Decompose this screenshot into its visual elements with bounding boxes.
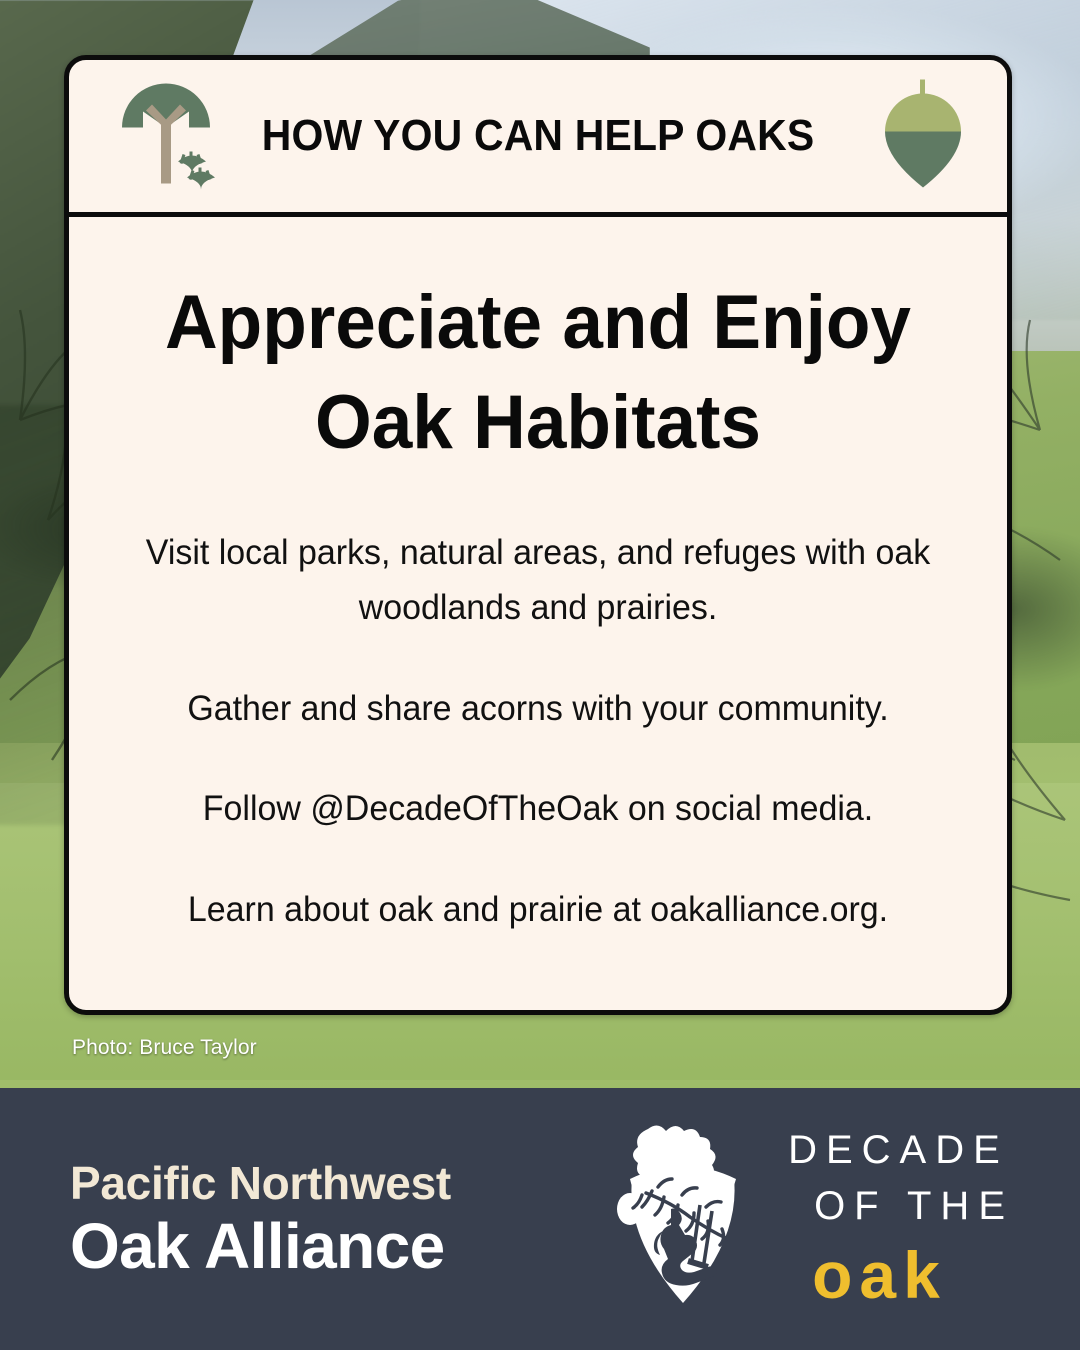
org-name-line-1: Pacific Northwest xyxy=(70,1160,451,1206)
body-line-4: Learn about oak and prairie at oakallian… xyxy=(132,883,945,938)
card-header: HOW YOU CAN HELP OAKS xyxy=(69,60,1007,217)
acorn-icon xyxy=(877,78,969,195)
photo-credit: Photo: Bruce Taylor xyxy=(72,1036,257,1060)
decade-word-3: oak xyxy=(812,1242,1014,1308)
oak-tree-icon xyxy=(113,78,219,195)
decade-word-1: DECADE xyxy=(788,1130,1014,1170)
page-title: Appreciate and Enjoy Oak Habitats xyxy=(136,273,940,474)
body-line-2: Gather and share acorns with your commun… xyxy=(132,682,945,737)
org-name-line-2: Oak Alliance xyxy=(70,1214,451,1278)
headline-line-1: Appreciate and Enjoy xyxy=(165,280,911,365)
body-line-3: Follow @DecadeOfTheOak on social media. xyxy=(132,782,945,837)
pnw-oak-alliance-wordmark: Pacific Northwest Oak Alliance xyxy=(70,1160,451,1278)
poster-root: HOW YOU CAN HELP OAKS Appreciate and Enj… xyxy=(0,0,1080,1350)
card-kicker: HOW YOU CAN HELP OAKS xyxy=(262,111,815,161)
decade-of-the-oak-logo: DECADE OF THE oak xyxy=(608,1121,1014,1318)
headline-line-2: Oak Habitats xyxy=(136,373,940,473)
acorn-swing-logo-icon xyxy=(608,1121,758,1318)
decade-wordmark: DECADE OF THE oak xyxy=(788,1130,1014,1308)
info-card: HOW YOU CAN HELP OAKS Appreciate and Enj… xyxy=(64,55,1012,1015)
decade-word-2: OF THE xyxy=(814,1186,1014,1226)
footer-bar: Pacific Northwest Oak Alliance xyxy=(0,1088,1080,1350)
card-body: Appreciate and Enjoy Oak Habitats Visit … xyxy=(69,217,1007,938)
body-line-1: Visit local parks, natural areas, and re… xyxy=(132,526,945,636)
body-copy: Visit local parks, natural areas, and re… xyxy=(119,526,957,939)
